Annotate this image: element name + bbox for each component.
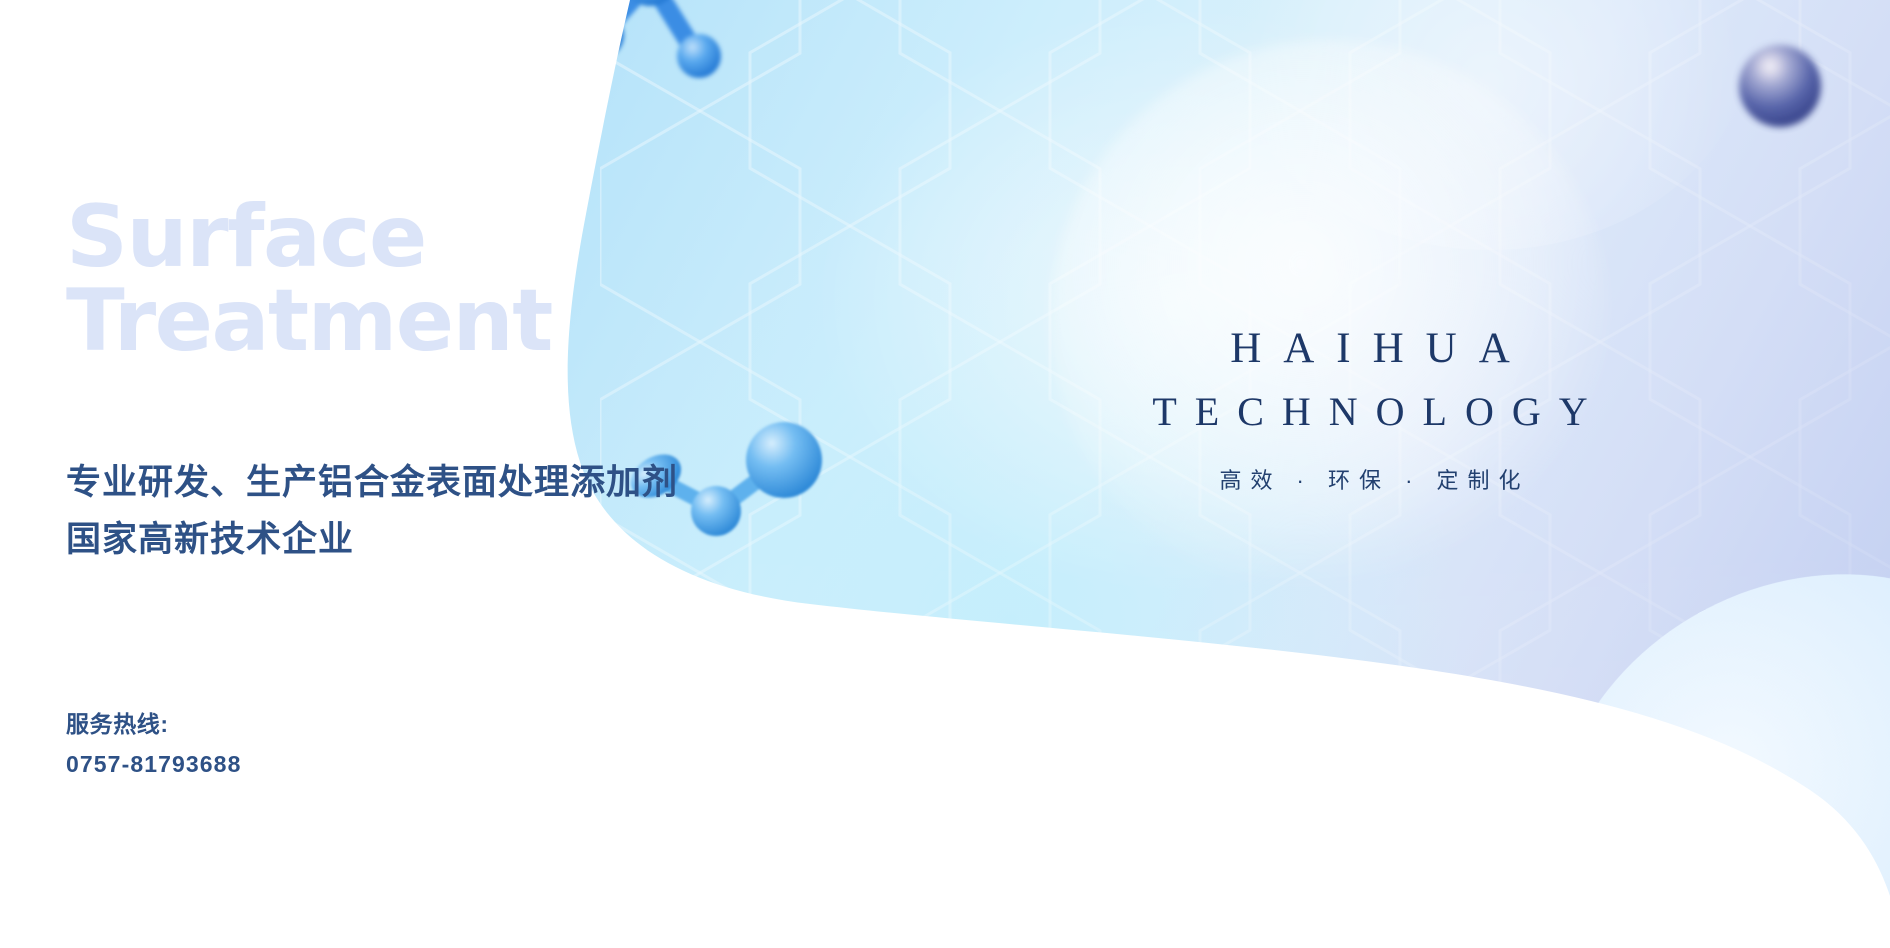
hotline-number[interactable]: 0757-81793688 — [66, 745, 241, 785]
hotline-label: 服务热线: — [66, 705, 241, 745]
ghost-title: Surface Treatment — [66, 195, 552, 364]
hotline-block: 服务热线: 0757-81793688 — [66, 705, 241, 784]
sphere-icon — [1739, 45, 1821, 127]
promo-banner: Surface Treatment 专业研发、生产铝合金表面处理添加剂 国家高新… — [0, 0, 1890, 948]
headline: 专业研发、生产铝合金表面处理添加剂 国家高新技术企业 — [66, 455, 678, 568]
logo-name-primary: HAIHUA — [1060, 320, 1680, 378]
logo-name-secondary: TECHNOLOGY — [1060, 382, 1680, 442]
logo-lockup: HAIHUA TECHNOLOGY 高效 · 环保 · 定制化 — [1060, 320, 1680, 497]
logo-tagline: 高效 · 环保 · 定制化 — [1060, 464, 1680, 497]
